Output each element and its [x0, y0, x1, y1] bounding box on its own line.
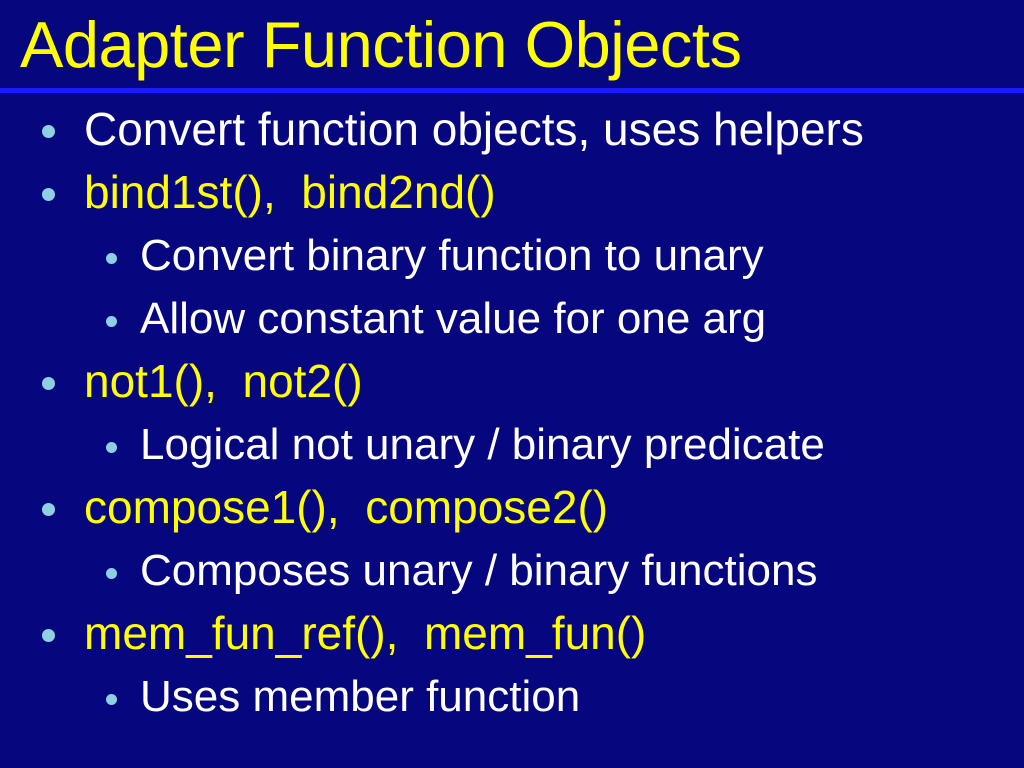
- sub-list-item: Logical not unary / binary predicate: [0, 413, 1024, 476]
- sub-list-item-label: Composes unary / binary functions: [140, 539, 817, 602]
- presentation-slide: Adapter Function Objects Convert functio…: [0, 0, 1024, 768]
- bullet-dot-icon: [42, 629, 55, 642]
- list-item-label: bind1st(), bind2nd(): [84, 161, 496, 224]
- page-title: Adapter Function Objects: [20, 6, 741, 84]
- list-item: Convert function objects, uses helpers: [0, 98, 1024, 161]
- slide-title-area: Adapter Function Objects: [0, 0, 1024, 90]
- list-item: compose1(), compose2(): [0, 476, 1024, 539]
- sub-list-item-label: Allow constant value for one arg: [140, 287, 766, 350]
- list-item: mem_fun_ref(), mem_fun(): [0, 602, 1024, 665]
- sub-list-item: Convert binary function to unary: [0, 224, 1024, 287]
- slide-body-bullet-list: Convert function objects, uses helpers b…: [0, 98, 1024, 768]
- list-item: bind1st(), bind2nd(): [0, 161, 1024, 224]
- sub-list-item-label: Logical not unary / binary predicate: [140, 413, 825, 476]
- list-item-label: not1(), not2(): [84, 350, 363, 413]
- bullet-dot-icon: [106, 316, 117, 327]
- bullet-dot-icon: [42, 377, 55, 390]
- title-divider-rule: [0, 88, 1024, 93]
- bullet-dot-icon: [42, 188, 55, 201]
- sub-list-item-label: Convert binary function to unary: [140, 224, 764, 287]
- sub-list-item-label: Uses member function: [140, 665, 580, 728]
- list-item-label: Convert function objects, uses helpers: [84, 98, 864, 161]
- sub-list-item: Allow constant value for one arg: [0, 287, 1024, 350]
- bullet-dot-icon: [106, 253, 117, 264]
- list-item: not1(), not2(): [0, 350, 1024, 413]
- sub-list-item: Uses member function: [0, 665, 1024, 728]
- bullet-dot-icon: [106, 442, 117, 453]
- list-item-label: compose1(), compose2(): [84, 476, 608, 539]
- bullet-dot-icon: [106, 694, 117, 705]
- bullet-dot-icon: [106, 568, 117, 579]
- list-item-label: mem_fun_ref(), mem_fun(): [84, 602, 646, 665]
- bullet-dot-icon: [42, 125, 55, 138]
- sub-list-item: Composes unary / binary functions: [0, 539, 1024, 602]
- bullet-dot-icon: [42, 503, 55, 516]
